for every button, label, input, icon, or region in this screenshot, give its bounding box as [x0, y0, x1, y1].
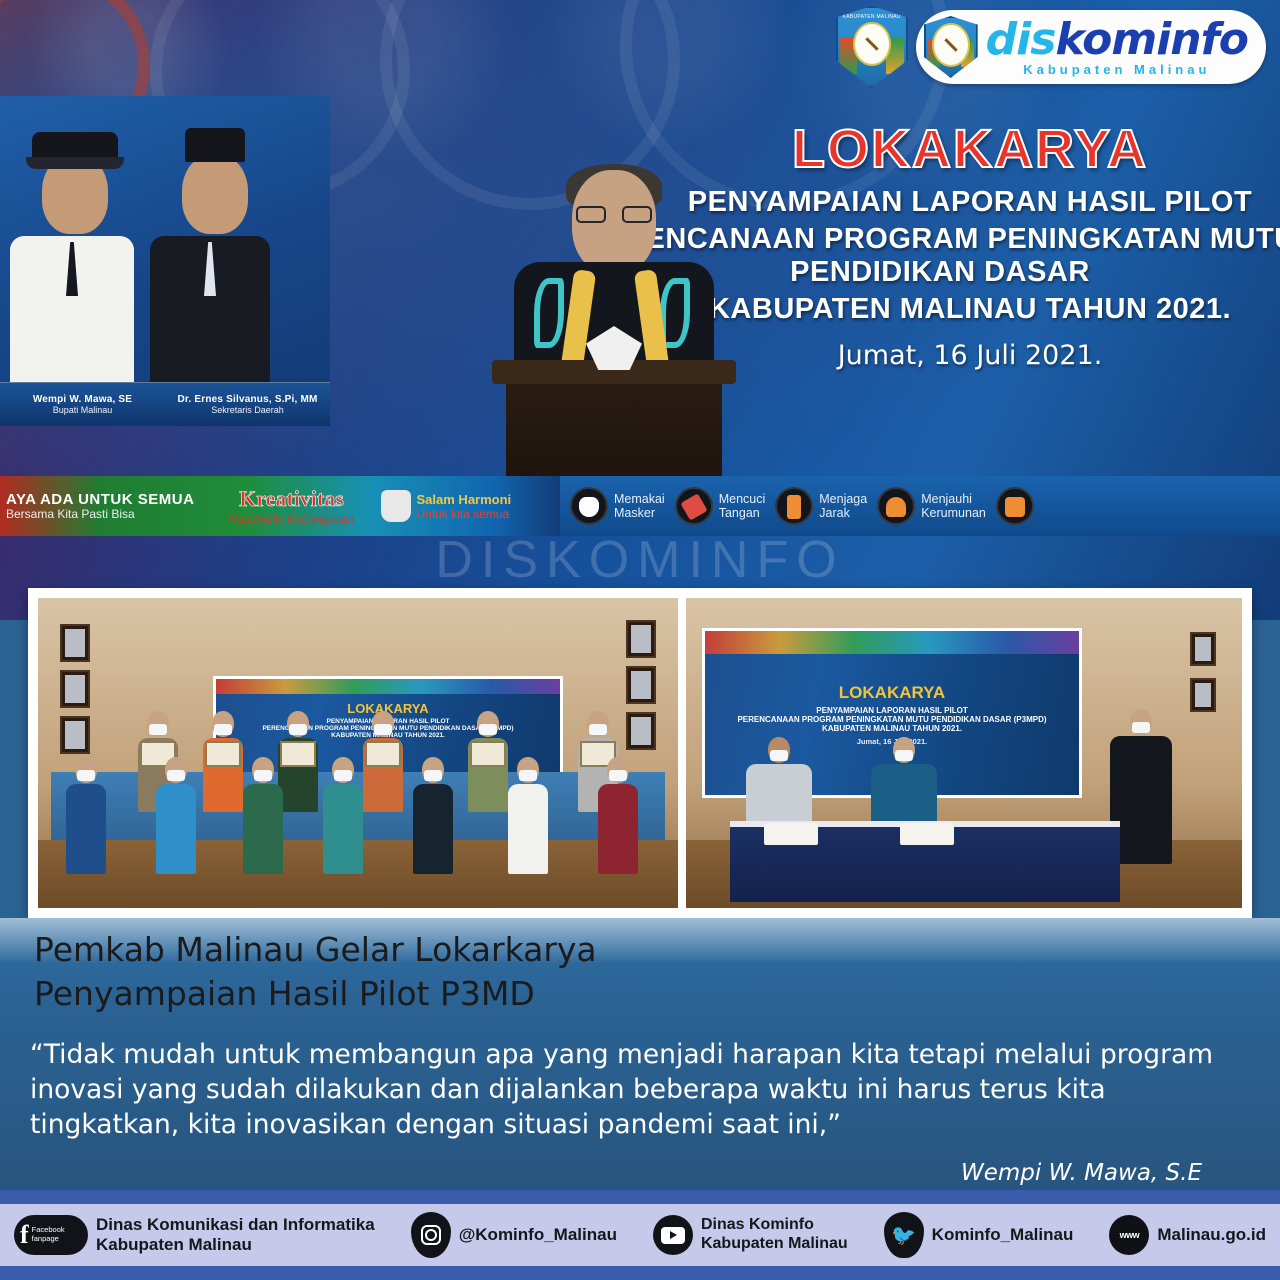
slogan-left-main: AYA ADA UNTUK SEMUA	[6, 491, 194, 508]
wall-portrait	[1190, 678, 1216, 712]
wall-portrait	[626, 666, 656, 704]
poster-root: Wempi W. Mawa, SE Bupati Malinau Dr. Ern…	[0, 0, 1280, 1280]
face-mask-icon	[149, 724, 167, 735]
official-head	[182, 154, 248, 234]
face-mask-icon	[609, 770, 627, 781]
footer-label-line1: Dinas Komunikasi dan Informatika	[96, 1215, 375, 1235]
footer-youtube-label: Dinas Kominfo Kabupaten Malinau	[701, 1216, 848, 1254]
footer-website[interactable]: www Malinau.go.id	[1109, 1215, 1266, 1255]
attendee	[156, 757, 196, 874]
banner-rainbow-strip	[705, 631, 1079, 654]
attendee	[363, 711, 403, 812]
protocol-icon-extra	[996, 487, 1034, 525]
footer-label-line2: Kabupaten Malinau	[96, 1235, 375, 1255]
peci-cap-icon	[185, 128, 245, 162]
logo-word-part2: kominfo	[1055, 14, 1248, 65]
website-icon[interactable]: www	[1109, 1215, 1149, 1255]
wall-portrait	[60, 670, 90, 708]
face-mask-icon	[1132, 722, 1150, 733]
protocol-label-line2: Kerumunan	[921, 506, 986, 520]
protocol-label-line1: Mencuci	[719, 492, 766, 506]
batik-motif	[534, 278, 564, 348]
attendee	[598, 757, 638, 874]
protocol-label: Menjaga Jarak	[819, 492, 867, 521]
article-quote: “Tidak mudah untuk membangun apa yang me…	[30, 1038, 1250, 1143]
mask-icon	[570, 487, 608, 525]
wash-hands-icon	[675, 487, 713, 525]
wall-portrait	[60, 624, 90, 662]
protocol-label: Memakai Masker	[614, 492, 665, 521]
social-footer: f Facebook fanpage Dinas Komunikasi dan …	[0, 1190, 1280, 1280]
inset-banner-line-2: PERENCANAAN PROGRAM PENINGKATAN MUTU PEN…	[705, 715, 1079, 724]
brand-logo-row: KABUPATEN MALINAU diskominfo Kabupaten M…	[836, 6, 1266, 88]
official-figure-bupati	[10, 154, 140, 386]
www-label: www	[1120, 1230, 1140, 1240]
necktie-icon	[204, 242, 216, 296]
protocol-item-crowd: Menjauhi Kerumunan	[877, 487, 986, 525]
slogan-left: AYA ADA UNTUK SEMUA Bersama Kita Pasti B…	[6, 491, 194, 522]
officials-portrait-panel: Wempi W. Mawa, SE Bupati Malinau Dr. Ern…	[0, 96, 330, 426]
logo-subtitle: Kabupaten Malinau	[986, 63, 1248, 76]
protocol-label-line2: Tangan	[719, 506, 766, 520]
malinau-regency-crest-icon	[924, 16, 978, 78]
instagram-icon[interactable]	[411, 1212, 451, 1258]
slogan-center-main: Kreativitas	[239, 486, 344, 511]
face-mask-icon	[254, 770, 272, 781]
protocol-item-distance: Menjaga Jarak	[775, 487, 867, 525]
face-mask-icon	[895, 750, 913, 761]
eyeglasses-icon	[576, 206, 652, 223]
attendee	[323, 757, 363, 874]
slogan-strip: AYA ADA UNTUK SEMUA Bersama Kita Pasti B…	[0, 476, 560, 536]
official-head	[42, 154, 108, 234]
slogan-right-sub: Untuk kita semua	[417, 507, 512, 521]
facebook-icon[interactable]: f Facebook fanpage	[14, 1215, 88, 1255]
twitter-icon[interactable]: 🐦	[884, 1212, 924, 1258]
officials-nameplate: Wempi W. Mawa, SE Bupati Malinau Dr. Ern…	[0, 382, 330, 426]
official-figure-sekda	[150, 154, 280, 386]
footer-label-line1: Dinas Kominfo	[701, 1216, 848, 1235]
hero-photo: Wempi W. Mawa, SE Bupati Malinau Dr. Ern…	[0, 0, 1280, 620]
article-text-block: Pemkab Malinau Gelar Lokarkarya Penyampa…	[0, 918, 1280, 1190]
protocol-label: Menjauhi Kerumunan	[921, 492, 986, 521]
crest-caption: KABUPATEN MALINAU	[843, 14, 901, 20]
official-name: Dr. Ernes Silvanus, S.Pi, MM	[165, 394, 330, 406]
distance-icon	[775, 487, 813, 525]
footer-facebook-label: Dinas Komunikasi dan Informatika Kabupat…	[96, 1215, 375, 1255]
protocol-item-wash: Mencuci Tangan	[675, 487, 766, 525]
official-name: Wempi W. Mawa, SE	[0, 394, 165, 406]
slogan-right: Salam Harmoni Untuk kita semua	[381, 490, 512, 522]
footer-instagram-label: @Kominfo_Malinau	[459, 1225, 617, 1245]
photo-group-awards: LOKAKARYA PENYAMPAIAN LAPORAN HASIL PILO…	[38, 598, 678, 908]
quote-attribution: Wempi W. Mawa, S.E	[961, 1160, 1202, 1186]
face-mask-icon	[214, 724, 232, 735]
footer-youtube[interactable]: Dinas Kominfo Kabupaten Malinau	[653, 1215, 848, 1255]
official-uniform	[10, 236, 134, 386]
malinau-regency-crest-icon: KABUPATEN MALINAU	[836, 6, 908, 88]
footer-instagram[interactable]: @Kominfo_Malinau	[411, 1212, 617, 1258]
logo-word-part1: dis	[986, 14, 1056, 65]
attendee	[278, 711, 318, 812]
official-suit	[150, 236, 270, 386]
peaked-cap-icon	[32, 132, 118, 162]
document-paper	[764, 823, 818, 845]
footer-twitter-label: Kominfo_Malinau	[932, 1225, 1074, 1245]
inset-banner-line-3: KABUPATEN MALINAU TAHUN 2021.	[705, 724, 1079, 733]
photo-card: LOKAKARYA PENYAMPAIAN LAPORAN HASIL PILO…	[28, 588, 1252, 918]
protocol-label-line2: Masker	[614, 506, 665, 520]
slogan-center: Kreativitas Nasionalis Kebangsaan	[228, 486, 354, 526]
wall-portrait	[60, 716, 90, 754]
face-mask-icon	[424, 770, 442, 781]
attendee	[468, 711, 508, 812]
avoid-crowd-icon	[877, 487, 915, 525]
youtube-icon[interactable]	[653, 1215, 693, 1255]
face-mask-icon	[167, 770, 185, 781]
crest-center-emblem	[853, 22, 891, 66]
face-mask-icon	[77, 770, 95, 781]
hand-icon	[381, 490, 411, 522]
inset-banner-title: LOKAKARYA	[705, 683, 1079, 703]
face-mask-icon	[589, 724, 607, 735]
protocol-label-line1: Menjauhi	[921, 492, 986, 506]
certificate	[470, 741, 506, 767]
official-nameplate-sekda: Dr. Ernes Silvanus, S.Pi, MM Sekretaris …	[165, 394, 330, 416]
face-mask-icon	[374, 724, 392, 735]
wall-portrait	[1190, 632, 1216, 666]
inset-banner-line-1: PENYAMPAIAN LAPORAN HASIL PILOT	[705, 706, 1079, 715]
attendee	[203, 711, 243, 812]
footer-website-label: Malinau.go.id	[1157, 1225, 1266, 1245]
attendee	[243, 757, 283, 874]
wall-portrait	[626, 712, 656, 750]
slogan-center-sub: Nasionalis Kebangsaan	[228, 512, 354, 526]
footer-label-line2: Kabupaten Malinau	[701, 1235, 848, 1254]
face-mask-icon	[479, 724, 497, 735]
face-mask-icon	[519, 770, 537, 781]
certificate	[365, 741, 401, 767]
slogan-right-main: Salam Harmoni	[417, 492, 512, 507]
certificate	[205, 741, 241, 767]
protocol-label-line2: Jarak	[819, 506, 867, 520]
wall-portrait	[626, 620, 656, 658]
article-headline: Pemkab Malinau Gelar Lokarkarya Penyampa…	[34, 928, 734, 1015]
face-mask-icon	[289, 724, 307, 735]
crest-center-emblem	[932, 23, 970, 67]
health-protocol-strip: AYA ADA UNTUK SEMUA Bersama Kita Pasti B…	[0, 476, 1280, 536]
signing-table	[730, 821, 1119, 902]
attendee	[413, 757, 453, 874]
attendee	[508, 757, 548, 874]
photo-signing-ceremony: LOKAKARYA PENYAMPAIAN LAPORAN HASIL PILO…	[686, 598, 1242, 908]
health-protocol-items: Memakai Masker Mencuci Tangan Menjaga	[560, 487, 1034, 525]
protocol-label-line1: Memakai	[614, 492, 665, 506]
certificate	[280, 741, 316, 767]
protocol-item-mask: Memakai Masker	[570, 487, 665, 525]
footer-facebook[interactable]: f Facebook fanpage Dinas Komunikasi dan …	[14, 1215, 375, 1255]
official-role: Bupati Malinau	[0, 405, 165, 415]
diskominfo-wordmark: diskominfo Kabupaten Malinau	[986, 18, 1248, 76]
protocol-label-line1: Menjaga	[819, 492, 867, 506]
slogan-left-sub: Bersama Kita Pasti Bisa	[6, 508, 194, 521]
facebook-badge-line2: fanpage	[32, 1235, 65, 1244]
protocol-label: Mencuci Tangan	[719, 492, 766, 521]
necktie-icon	[66, 242, 78, 296]
face-mask-icon	[770, 750, 788, 761]
attendee	[66, 757, 106, 874]
diskominfo-logo: diskominfo Kabupaten Malinau	[916, 10, 1266, 84]
official-nameplate-bupati: Wempi W. Mawa, SE Bupati Malinau	[0, 394, 165, 416]
official-role: Sekretaris Daerah	[165, 405, 330, 415]
banner-rainbow-strip	[216, 679, 560, 694]
face-mask-icon	[334, 770, 352, 781]
document-paper	[900, 823, 954, 845]
footer-twitter[interactable]: 🐦 Kominfo_Malinau	[884, 1212, 1074, 1258]
